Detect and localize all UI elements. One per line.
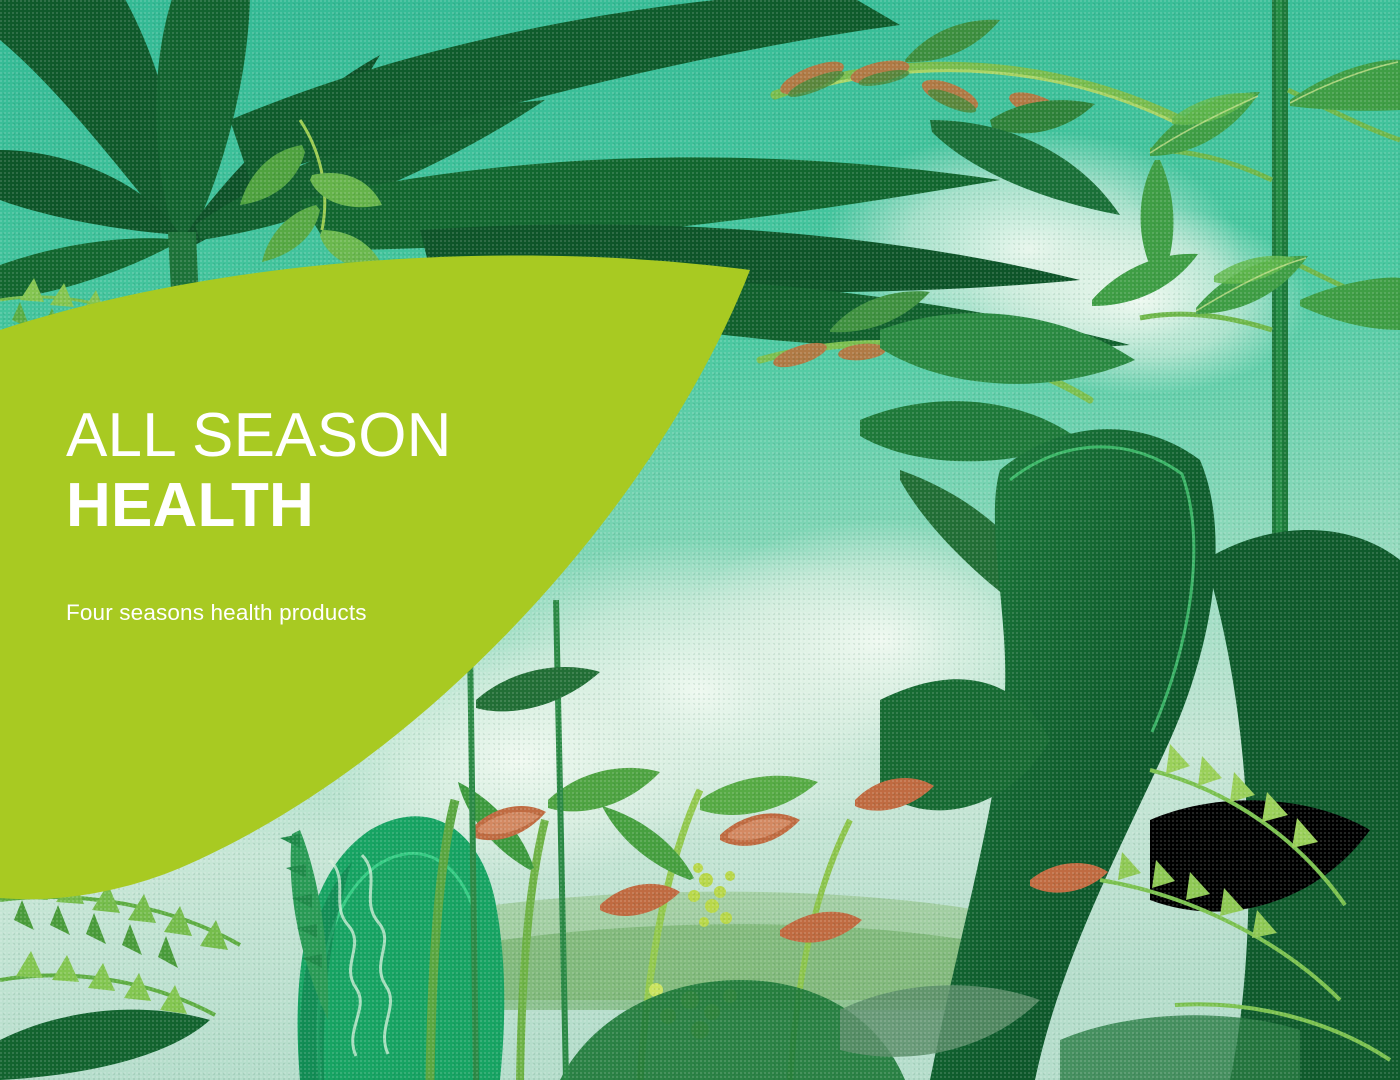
poster-copy: ALL SEASON HEALTH Four seasons health pr… <box>66 404 706 626</box>
page-subtitle: Four seasons health products <box>66 600 706 626</box>
page-title-line-1: ALL SEASON <box>66 404 706 467</box>
page-title-line-2: HEALTH <box>66 473 706 538</box>
poster-canvas: ALL SEASON HEALTH Four seasons health pr… <box>0 0 1400 1080</box>
